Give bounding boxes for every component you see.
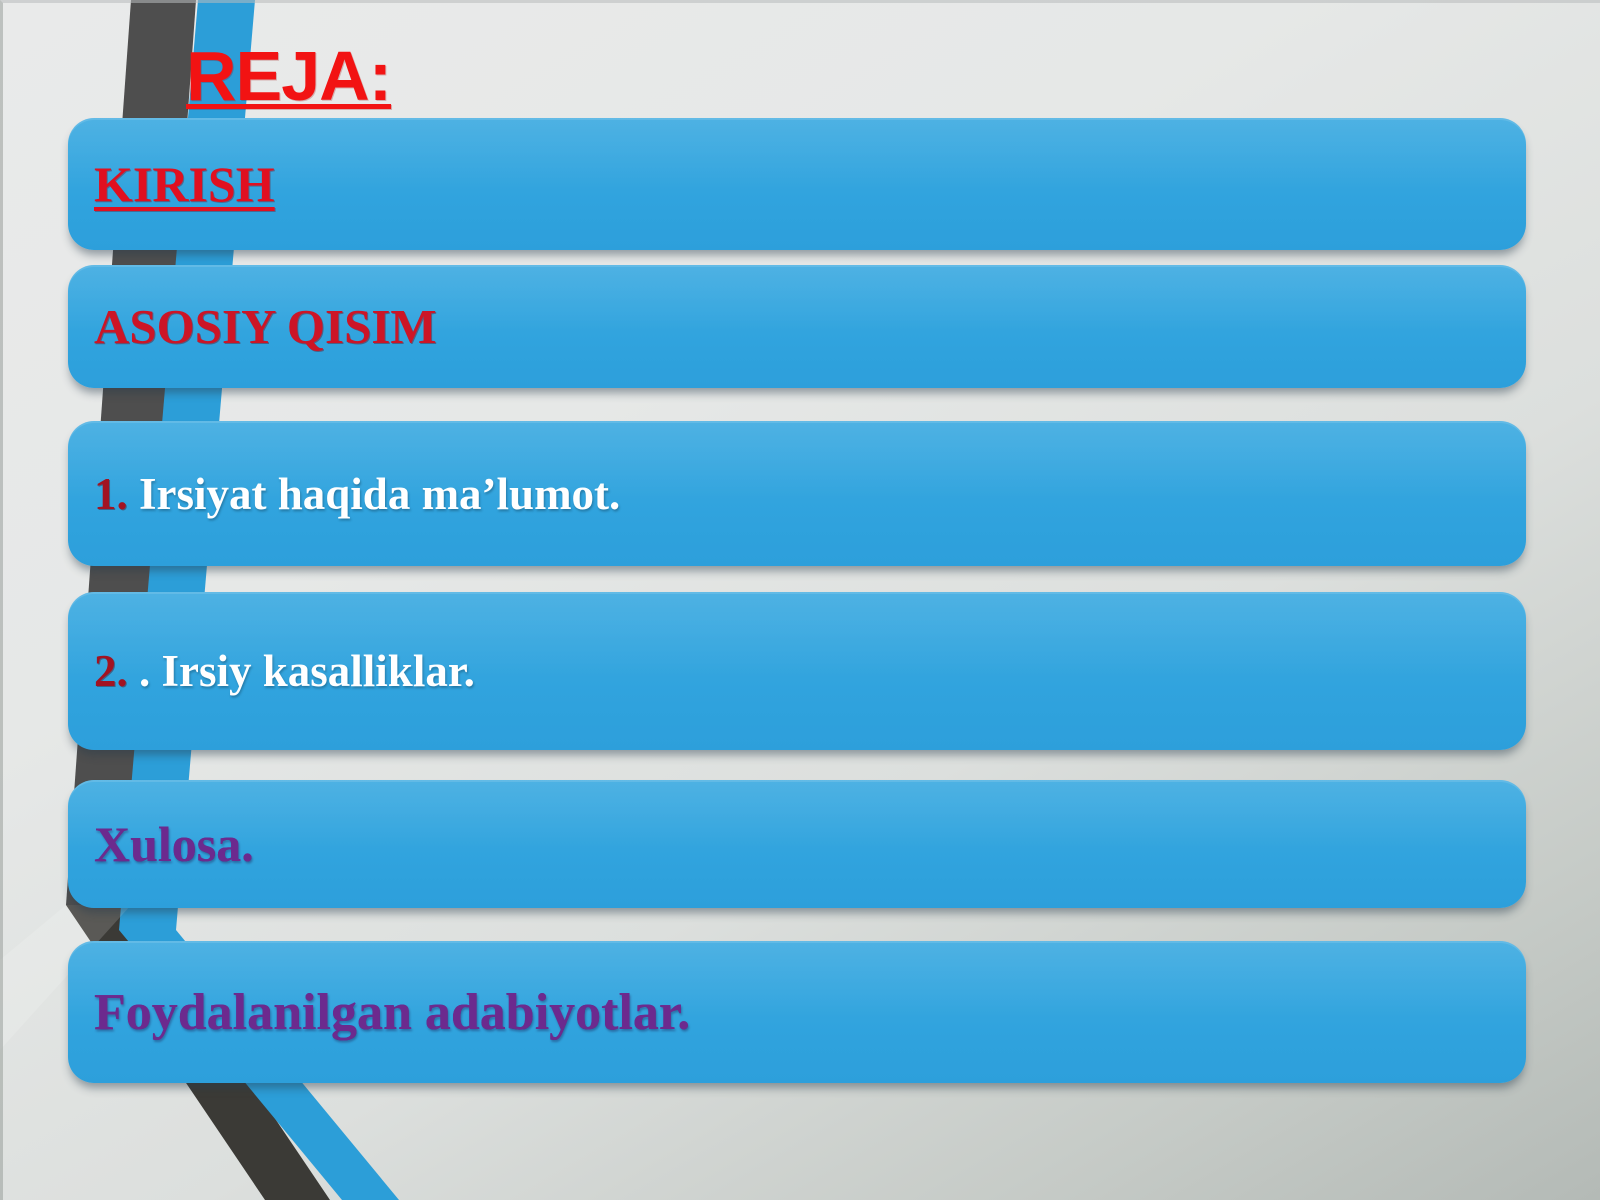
agenda-bar-kirish[interactable]: KIRISH [68, 118, 1526, 250]
agenda-bar-asosiy-qisim[interactable]: ASOSIY QISIM [68, 265, 1526, 388]
agenda-bar-irsiy-kasalliklar[interactable]: 2. . Irsiy kasalliklar. [68, 592, 1526, 750]
agenda-label-xulosa: Xulosa. [68, 815, 254, 873]
agenda-item-number: 1. [94, 469, 128, 519]
presentation-slide: REJA: KIRISH ASOSIY QISIM 1. Irsiyat haq… [0, 0, 1600, 1200]
agenda-item-text: . Irsiy kasalliklar. [128, 646, 475, 696]
agenda-label-asosiy-qisim: ASOSIY QISIM [68, 298, 437, 355]
agenda-label-irsiy-kasalliklar: 2. . Irsiy kasalliklar. [68, 645, 475, 697]
agenda-label-irsiyat-haqida-malumot: 1. Irsiyat haqida ma’lumot. [68, 468, 620, 520]
bar-sheen [68, 780, 1526, 850]
agenda-label-foydalanilgan-adabiyotlar: Foydalanilgan adabiyotlar. [68, 983, 690, 1042]
agenda-bar-irsiyat-haqida-malumot[interactable]: 1. Irsiyat haqida ma’lumot. [68, 421, 1526, 566]
bar-sheen [68, 118, 1526, 191]
agenda-bar-xulosa[interactable]: Xulosa. [68, 780, 1526, 908]
agenda-bar-foydalanilgan-adabiyotlar[interactable]: Foydalanilgan adabiyotlar. [68, 941, 1526, 1083]
agenda-item-number: 2. [94, 646, 128, 696]
agenda-item-text: Irsiyat haqida ma’lumot. [128, 469, 621, 519]
page-title: REJA: [186, 38, 391, 114]
agenda-label-kirish: KIRISH [68, 155, 275, 213]
